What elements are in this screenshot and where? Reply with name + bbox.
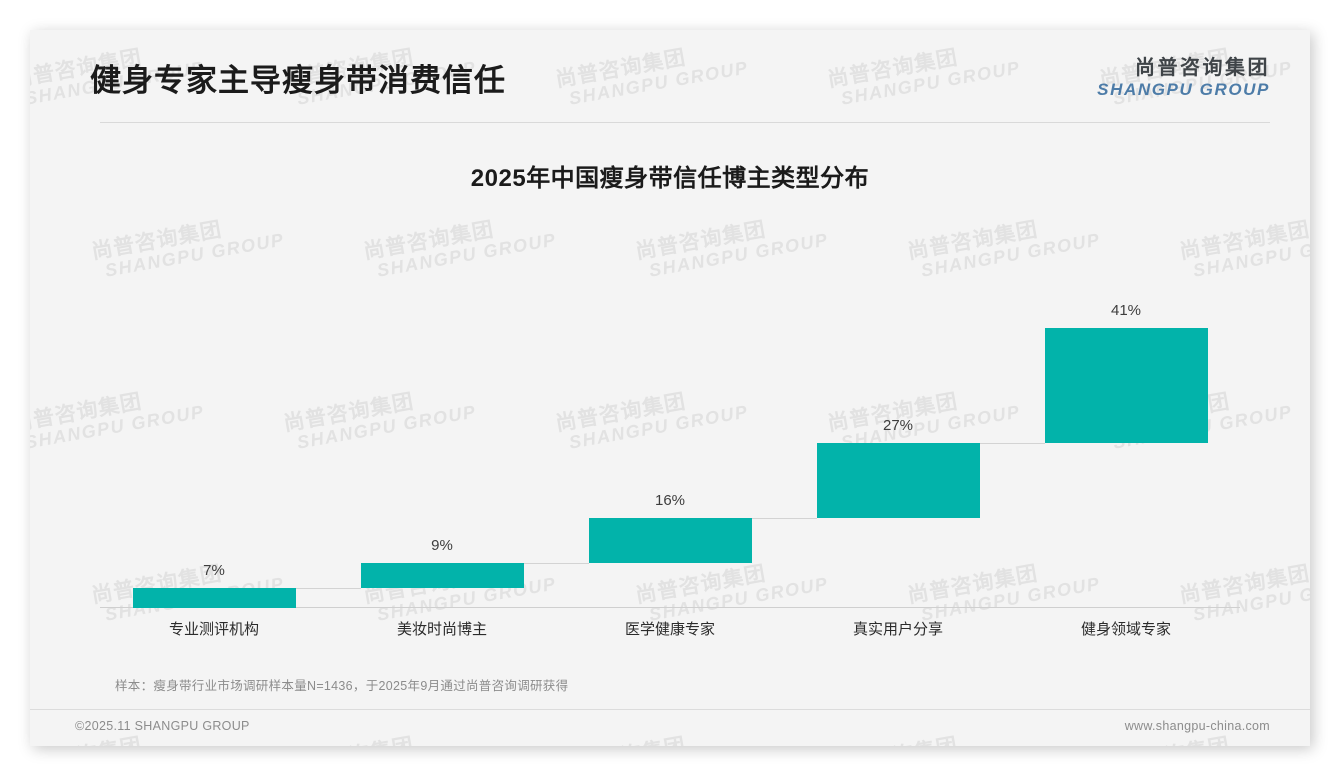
bar-value-label: 27% — [817, 417, 980, 434]
waterfall-connector — [524, 563, 589, 564]
bar-2[interactable] — [361, 563, 524, 588]
slide-header: 健身专家主导瘦身带消费信任 尚普咨询集团 SHANGPU GROUP — [30, 30, 1310, 123]
category-label-1: 专业测评机构 — [100, 618, 328, 639]
bar-4[interactable] — [817, 443, 980, 519]
source-note: 样本：瘦身带行业市场调研样本量N=1436，于2025年9月通过尚普咨询调研获得 — [115, 675, 568, 694]
logo-chinese-text: 尚普咨询集团 — [1097, 56, 1270, 80]
chart-title: 2025年中国瘦身带信任博主类型分布 — [30, 158, 1310, 193]
bar-1[interactable] — [133, 588, 296, 608]
waterfall-connector — [752, 518, 817, 519]
category-label-3: 医学健康专家 — [556, 618, 784, 639]
bar-value-label: 16% — [589, 492, 752, 509]
category-label-2: 美妆时尚博主 — [328, 618, 556, 639]
waterfall-connector — [296, 588, 361, 589]
slide-footer: ©2025.11 SHANGPU GROUP www.shangpu-china… — [30, 710, 1310, 746]
waterfall-connector — [980, 443, 1045, 444]
header-divider — [100, 122, 1270, 123]
category-label-4: 真实用户分享 — [784, 618, 1012, 639]
bar-3[interactable] — [589, 518, 752, 563]
bar-value-label: 41% — [1045, 302, 1208, 319]
chart-block: 2025年中国瘦身带信任博主类型分布 7%专业测评机构9%美妆时尚博主16%医学… — [30, 123, 1310, 651]
page-title: 健身专家主导瘦身带消费信任 — [90, 55, 506, 100]
bar-value-label: 9% — [361, 537, 524, 554]
category-label-5: 健身领域专家 — [1012, 618, 1240, 639]
footer-website: www.shangpu-china.com — [1125, 719, 1270, 733]
brand-logo: 尚普咨询集团 SHANGPU GROUP — [1097, 56, 1270, 100]
bar-value-label: 7% — [133, 562, 296, 579]
logo-english-text: SHANGPU GROUP — [1097, 80, 1270, 100]
bar-5[interactable] — [1045, 328, 1208, 443]
footer-copyright: ©2025.11 SHANGPU GROUP — [75, 719, 250, 733]
slide: 尚普咨询集团SHANGPU GROUP尚普咨询集团SHANGPU GROUP尚普… — [30, 30, 1310, 746]
waterfall-plot: 7%专业测评机构9%美妆时尚博主16%医学健康专家27%真实用户分享41%健身领… — [100, 213, 1240, 608]
